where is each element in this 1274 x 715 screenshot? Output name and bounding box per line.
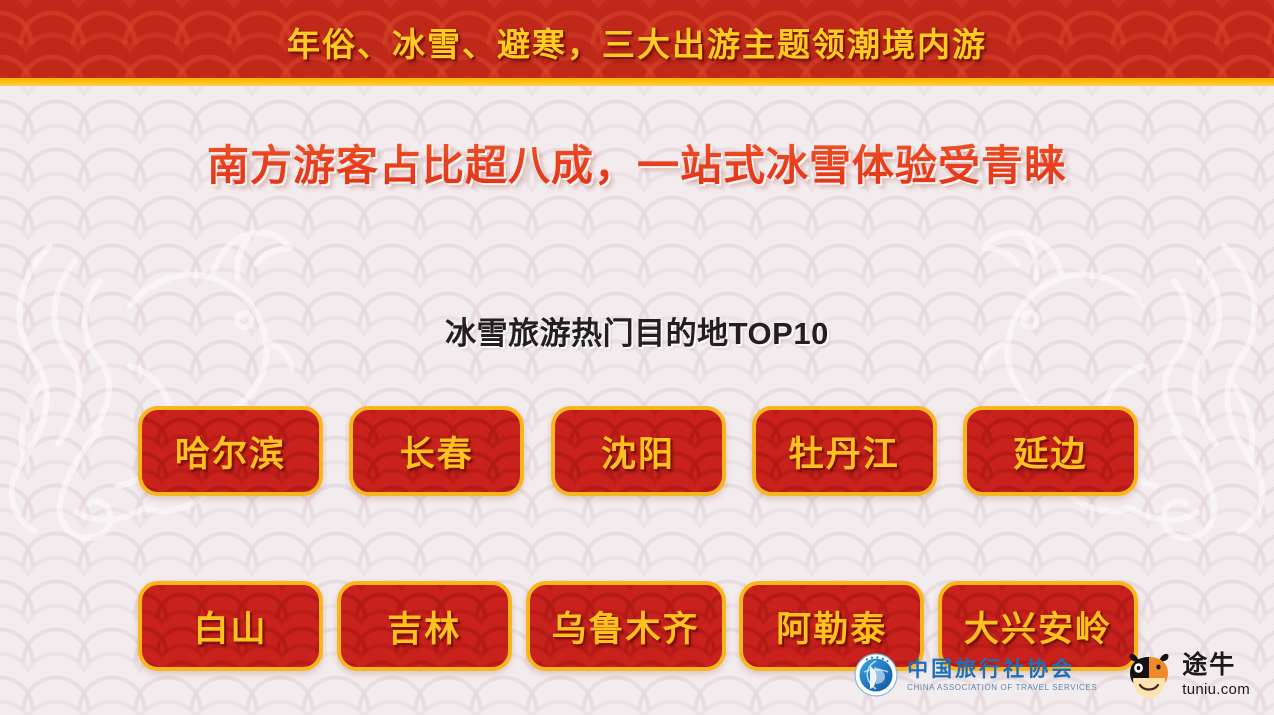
section-subtitle: 冰雪旅游热门目的地TOP10 [0,308,1274,353]
destination-pill-grid: 哈尔滨 长春 沈阳 牡丹江 延边 白山 [138,406,1138,671]
tuniu-url: tuniu.com [1182,682,1250,697]
destination-pill-7[interactable]: 吉林 [337,581,512,671]
page-title: 南方游客占比超八成，一站式冰雪体验受青睐 [0,132,1274,193]
destination-pill-1[interactable]: 哈尔滨 [138,406,323,496]
destination-label: 沈阳 [601,426,675,477]
destination-label: 大兴安岭 [964,601,1112,652]
destination-pill-4[interactable]: 牡丹江 [752,406,937,496]
destination-label: 牡丹江 [789,426,900,477]
body-area: 南方游客占比超八成，一站式冰雪体验受青睐 冰雪旅游热门目的地TOP10 哈尔滨 … [0,86,1274,715]
destination-label: 长春 [400,426,474,477]
destination-label: 延边 [1013,426,1087,477]
tuniu-name-cn: 途牛 [1182,653,1250,678]
globe-emblem-icon [854,653,898,697]
header-banner: 年俗、冰雪、避寒，三大出游主题领潮境内游 [0,0,1274,86]
footer-logos: 中国旅行社协会 CHINA ASSOCIATION OF TRAVEL SERV… [854,651,1250,699]
banner-title: 年俗、冰雪、避寒，三大出游主题领潮境内游 [0,18,1274,66]
destination-label: 阿勒泰 [776,601,887,652]
destination-pill-6[interactable]: 白山 [138,581,323,671]
tuniu-text-block: 途牛 tuniu.com [1182,653,1250,697]
tuniu-logo: 途牛 tuniu.com [1123,651,1250,699]
destination-label: 乌鲁木齐 [552,601,700,652]
destination-label: 哈尔滨 [175,426,286,477]
destination-pill-2[interactable]: 长春 [349,406,524,496]
destination-label: 白山 [193,601,267,652]
cow-mascot-icon [1123,651,1175,699]
destination-label: 吉林 [387,601,461,652]
destination-pill-8[interactable]: 乌鲁木齐 [526,581,726,671]
catsv-name-cn: 中国旅行社协会 [907,659,1097,680]
infographic-poster: 年俗、冰雪、避寒，三大出游主题领潮境内游 [0,0,1274,715]
catsv-logo: 中国旅行社协会 CHINA ASSOCIATION OF TRAVEL SERV… [854,653,1097,697]
catsv-name-en: CHINA ASSOCIATION OF TRAVEL SERVICES [907,684,1097,692]
destination-pill-3[interactable]: 沈阳 [551,406,726,496]
destination-row-1: 哈尔滨 长春 沈阳 牡丹江 延边 [138,406,1138,496]
catsv-text-block: 中国旅行社协会 CHINA ASSOCIATION OF TRAVEL SERV… [907,659,1097,692]
destination-pill-5[interactable]: 延边 [963,406,1138,496]
